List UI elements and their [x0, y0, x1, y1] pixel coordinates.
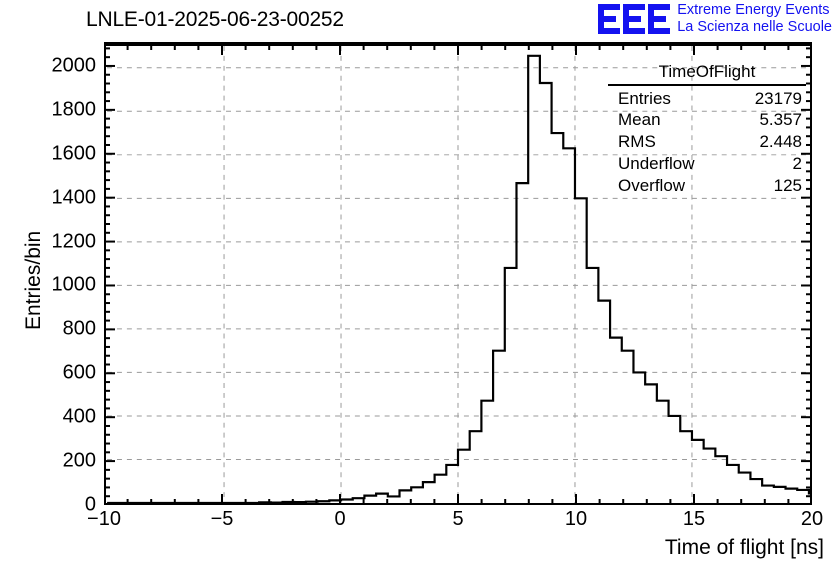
y-tick-label: 800	[63, 318, 96, 341]
y-tick-label: 1400	[52, 186, 97, 209]
stats-row-value: 2.448	[759, 131, 802, 153]
eee-logo-mark	[598, 4, 670, 34]
logo-letter-e-icon	[598, 4, 620, 34]
y-tick-label: 1200	[52, 230, 97, 253]
logo-text: Extreme Energy Events La Scienza nelle S…	[677, 2, 832, 36]
logo-line-1: Extreme Energy Events	[677, 2, 832, 19]
stats-row: Entries23179	[608, 88, 806, 110]
x-tick-label: −5	[211, 508, 234, 531]
x-tick-label: 0	[334, 508, 345, 531]
logo-letter-e-icon	[623, 4, 645, 34]
stats-row-value: 23179	[755, 88, 802, 110]
x-axis-title: Time of flight [ns]	[665, 536, 824, 560]
x-tick-label: −10	[87, 508, 121, 531]
stats-row-key: Entries	[618, 88, 671, 110]
stats-row: Mean5.357	[608, 109, 806, 131]
y-tick-label: 1000	[52, 274, 97, 297]
y-tick-label: 200	[63, 450, 96, 473]
stats-title: TimeOfFlight	[608, 62, 806, 83]
eee-logo: Extreme Energy Events La Scienza nelle S…	[598, 2, 832, 36]
y-axis-tick-labels: 0200400600800100012001400160018002000	[0, 0, 100, 572]
logo-line-2: La Scienza nelle Scuole	[677, 19, 832, 36]
x-tick-label: 15	[683, 508, 705, 531]
y-axis-title: Entries/bin	[22, 231, 46, 330]
stats-row-key: Mean	[618, 109, 661, 131]
stats-rows: Entries23179Mean5.357RMS2.448Underflow2O…	[608, 88, 806, 197]
stats-row: RMS2.448	[608, 131, 806, 153]
logo-letter-e-icon	[648, 4, 670, 34]
chart-canvas: LNLE-01-2025-06-23-00252 Extreme Energy …	[0, 0, 836, 572]
x-tick-label: 10	[565, 508, 587, 531]
stats-row: Underflow2	[608, 153, 806, 175]
stats-row-value: 5.357	[759, 109, 802, 131]
page-title: LNLE-01-2025-06-23-00252	[86, 8, 344, 32]
stats-row-key: RMS	[618, 131, 656, 153]
y-tick-label: 400	[63, 406, 96, 429]
stats-row-value: 2	[793, 153, 802, 175]
stats-divider	[608, 84, 806, 86]
y-tick-label: 600	[63, 362, 96, 385]
x-tick-label: 20	[801, 508, 823, 531]
stats-box: TimeOfFlight Entries23179Mean5.357RMS2.4…	[608, 62, 806, 196]
x-tick-label: 5	[452, 508, 463, 531]
y-tick-label: 2000	[52, 54, 97, 77]
stats-row: Overflow125	[608, 175, 806, 197]
stats-row-key: Underflow	[618, 153, 695, 175]
stats-row-value: 125	[774, 175, 802, 197]
y-tick-label: 1600	[52, 142, 97, 165]
stats-row-key: Overflow	[618, 175, 685, 197]
y-tick-label: 1800	[52, 98, 97, 121]
